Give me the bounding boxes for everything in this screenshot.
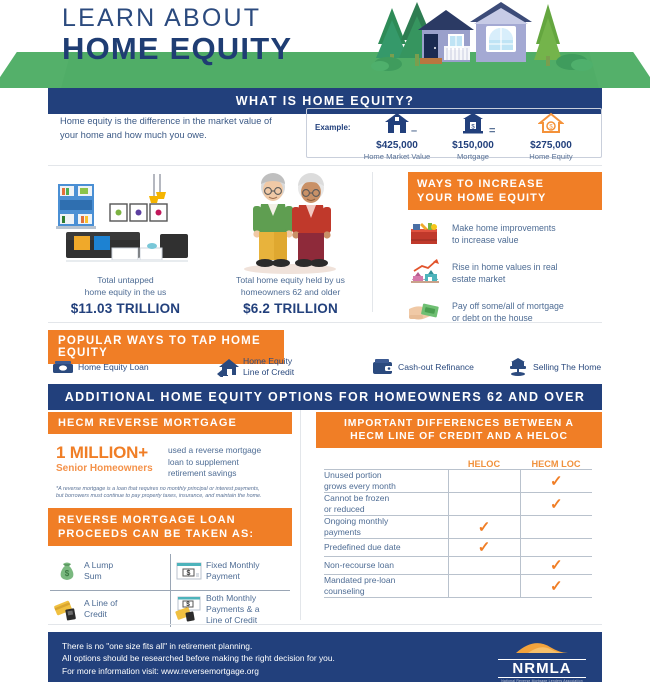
minus-operator: – xyxy=(411,125,417,137)
example-caption: Mortgage xyxy=(431,152,515,161)
table-row: Unused portion grows every month ✓ xyxy=(324,470,592,493)
hecm-stat-number-text: 1 MILLION xyxy=(56,443,138,462)
proceeds-band: REVERSE MORTGAGE LOAN PROCEEDS CAN BE TA… xyxy=(48,508,292,546)
example-amount: $150,000 xyxy=(431,140,515,151)
way-text-line1: Rise in home values in real xyxy=(452,261,558,273)
popular-item-label: Home Equity Line of Credit xyxy=(243,356,294,378)
living-room-svg xyxy=(48,170,203,275)
table-row: Ongoing monthly payments ✓ xyxy=(324,516,592,539)
svg-text:$: $ xyxy=(187,570,191,577)
comparison-header-blank xyxy=(324,459,448,470)
comparison-column: IMPORTANT DIFFERENCES BETWEEN A HECM LIN… xyxy=(316,412,602,598)
wallet-icon xyxy=(368,358,398,376)
comparison-row-label: Predefined due date xyxy=(324,539,448,557)
house-dollar-icon: $ xyxy=(538,112,564,134)
stat-caption-line2: home equity in the us xyxy=(48,287,203,299)
row-label-line2: grows every month xyxy=(324,481,448,492)
way-item-improvements: Make home improvements to increase value xyxy=(408,219,602,249)
comparison-cell-hecm xyxy=(520,539,592,557)
sold-sign-svg xyxy=(508,357,528,377)
proceeds-item-label: Fixed Monthly Payment xyxy=(206,560,260,582)
hecm-stat-block: 1 MILLION+ Senior Homeowners used a reve… xyxy=(48,443,292,480)
comparison-cell-heloc xyxy=(448,493,520,516)
svg-text:$: $ xyxy=(65,569,70,578)
vertical-divider xyxy=(372,172,373,312)
footer-line1: There is no "one size fits all" in retir… xyxy=(62,640,335,652)
proceeds-item-label: A Line of Credit xyxy=(84,598,117,620)
row-label-line1: Cannot be frozen xyxy=(324,493,448,504)
popular-item-label: Home Equity Loan xyxy=(78,362,149,373)
money-bag-icon: $ xyxy=(50,559,84,583)
hecm-stat-number-block: 1 MILLION+ Senior Homeowners xyxy=(56,443,168,480)
comparison-row-label: Cannot be frozen or reduced xyxy=(324,493,448,516)
stat-caption-line2: homeowners 62 and older xyxy=(213,287,368,299)
credit-card-icon xyxy=(50,597,84,621)
credit-card-svg xyxy=(53,597,81,621)
comparison-cell-hecm: ✓ xyxy=(520,470,592,493)
check-icon: ✓ xyxy=(478,519,491,536)
example-column-mortgage: $ $150,000 Mortgage xyxy=(431,112,515,161)
proceeds-grid: $ A Lump Sum $ xyxy=(48,552,292,629)
stat-caption-line1: Total home equity held by us xyxy=(213,275,368,287)
comparison-row-label: Mandated pre-loan counseling xyxy=(324,575,448,598)
way-text-line2: estate market xyxy=(452,273,558,285)
nrmla-wordmark: NRMLA xyxy=(498,659,586,678)
footer: There is no "one size fits all" in retir… xyxy=(48,632,602,682)
stat-caption-line1: Total untapped xyxy=(48,275,203,287)
comparison-band: IMPORTANT DIFFERENCES BETWEEN A HECM LIN… xyxy=(316,412,602,448)
comparison-cell-heloc xyxy=(448,557,520,575)
infographic-page: LEARN ABOUT HOME EQUITY xyxy=(0,0,650,691)
house-icon xyxy=(384,112,410,134)
popular-item-selling-home: Selling The Home xyxy=(503,357,602,377)
popular-label-line2: Line of Credit xyxy=(243,367,294,378)
sold-sign-icon xyxy=(503,357,533,377)
house-arrow-svg xyxy=(216,357,240,377)
proceeds-item-line-of-credit: A Line of Credit xyxy=(48,590,170,629)
footer-message: There is no "one size fits all" in retir… xyxy=(62,640,335,664)
hecm-desc-line3: retirement savings xyxy=(168,468,261,480)
way-item-text: Rise in home values in real estate marke… xyxy=(452,261,558,285)
table-row: Cannot be frozen or reduced ✓ xyxy=(324,493,592,516)
page-title: LEARN ABOUT HOME EQUITY xyxy=(62,4,292,66)
example-label: Example: xyxy=(315,123,351,132)
check-dollar-svg: $ xyxy=(176,561,202,581)
ways-band-line1: WAYS TO INCREASE xyxy=(417,177,593,191)
stat-senior-equity: Total home equity held by us homeowners … xyxy=(213,170,368,316)
comparison-table: HELOC HECM LOC Unused portion grows ever… xyxy=(324,459,592,598)
popular-item-cash-out-refinance: Cash-out Refinance xyxy=(368,358,503,376)
hecm-disclaimer: *A reverse mortgage is a loan that requi… xyxy=(48,486,268,501)
title-line-1: LEARN ABOUT xyxy=(62,4,292,32)
house-rising-chart-icon xyxy=(408,258,452,288)
row-label-line2: payments xyxy=(324,527,448,538)
check-card-svg: $ xyxy=(175,596,203,622)
popular-label-line1: Selling The Home xyxy=(533,362,601,373)
popular-ways-row: Home Equity Loan Home Equity Line of Cre… xyxy=(48,352,602,382)
proceeds-label-line1: Both Monthly xyxy=(206,593,260,604)
popular-label-line1: Home Equity Loan xyxy=(78,362,149,373)
living-room-illustration xyxy=(48,170,203,275)
comparison-cell-heloc: ✓ xyxy=(448,539,520,557)
example-caption: Home Market Value xyxy=(355,152,439,161)
nrmla-sun-icon xyxy=(498,640,586,654)
proceeds-item-both: $ Both Monthly Payments & a Line of Cred… xyxy=(170,590,292,629)
comparison-cell-heloc xyxy=(448,470,520,493)
check-icon: ✓ xyxy=(550,578,563,595)
check-dollar-icon: $ xyxy=(172,561,206,581)
ways-band-line2: YOUR HOME EQUITY xyxy=(417,191,593,205)
popular-label-line1: Home Equity xyxy=(243,356,294,367)
column-divider xyxy=(300,410,301,620)
equals-operator: = xyxy=(489,125,495,137)
way-item-market-rise: Rise in home values in real estate marke… xyxy=(408,258,602,288)
check-icon: ✓ xyxy=(478,539,491,556)
comparison-cell-hecm: ✓ xyxy=(520,575,592,598)
proceeds-item-lump-sum: $ A Lump Sum xyxy=(48,552,170,590)
way-text-line1: Pay off some/all of mortgage xyxy=(452,300,564,312)
comparison-table-head: HELOC HECM LOC xyxy=(324,459,592,470)
proceeds-band-line2: PROCEEDS CAN BE TAKEN AS: xyxy=(58,527,282,541)
comparison-row-label: Ongoing monthly payments xyxy=(324,516,448,539)
house-arrow-icon xyxy=(213,357,243,377)
comparison-cell-hecm: ✓ xyxy=(520,493,592,516)
proceeds-label-line2: Sum xyxy=(84,571,113,582)
toolbox-svg xyxy=(408,219,442,247)
money-stack-icon xyxy=(48,359,78,375)
row-label-line1: Unused portion xyxy=(324,470,448,481)
house-scene-illustration xyxy=(360,0,650,88)
check-icon: ✓ xyxy=(550,473,563,490)
popular-item-label: Cash-out Refinance xyxy=(398,362,474,373)
example-amount: $425,000 xyxy=(355,140,439,151)
stats-section: Total untapped home equity in the us $11… xyxy=(48,170,368,320)
footer-line2: All options should be researched before … xyxy=(62,652,335,664)
row-label-line1: Non-recourse loan xyxy=(324,560,448,571)
check-icon: ✓ xyxy=(550,557,563,574)
popular-item-heloc: Home Equity Line of Credit xyxy=(213,356,368,378)
nrmla-logo: NRMLA National Reverse Mortgage Lenders … xyxy=(498,640,586,683)
proceeds-horizontal-rule xyxy=(50,590,290,591)
hecm-stat-plus: + xyxy=(138,443,148,462)
bank-icon: $ xyxy=(460,112,486,134)
hecm-desc-line2: loan to supplement xyxy=(168,457,261,469)
way-item-text: Pay off some/all of mortgage or debt on … xyxy=(452,300,564,324)
table-row: Predefined due date ✓ xyxy=(324,539,592,557)
divider-top xyxy=(48,165,602,166)
additional-options-band: ADDITIONAL HOME EQUITY OPTIONS FOR HOMEO… xyxy=(48,384,602,410)
row-label-line2: counseling xyxy=(324,586,448,597)
way-item-text: Make home improvements to increase value xyxy=(452,222,556,246)
home-equity-definition: Home equity is the difference in the mar… xyxy=(60,114,290,142)
nrmla-subtitle: National Reverse Mortgage Lenders Associ… xyxy=(498,679,586,683)
example-box: Example: $425,000 Home Market Value – xyxy=(306,108,602,158)
header: LEARN ABOUT HOME EQUITY xyxy=(0,0,650,88)
check-icon: ✓ xyxy=(550,496,563,513)
comparison-row-label: Unused portion grows every month xyxy=(324,470,448,493)
row-label-line2: or reduced xyxy=(324,504,448,515)
popular-item-label: Selling The Home xyxy=(533,362,601,373)
comparison-header-row: HELOC HECM LOC xyxy=(324,459,592,470)
comparison-header-heloc: HELOC xyxy=(448,459,520,470)
house-rising-chart-svg xyxy=(408,258,442,286)
comparison-cell-heloc xyxy=(448,575,520,598)
way-text-line2: to increase value xyxy=(452,234,556,246)
hecm-stat-description: used a reverse mortgage loan to suppleme… xyxy=(168,443,261,480)
proceeds-item-fixed-monthly: $ Fixed Monthly Payment xyxy=(170,552,292,590)
money-stack-svg xyxy=(52,359,74,375)
popular-item-home-equity-loan: Home Equity Loan xyxy=(48,359,213,375)
stat-untapped-equity: Total untapped home equity in the us $11… xyxy=(48,170,203,316)
table-row: Non-recourse loan ✓ xyxy=(324,557,592,575)
table-row: Mandated pre-loan counseling ✓ xyxy=(324,575,592,598)
check-card-icon: $ xyxy=(172,596,206,622)
divider-mid xyxy=(48,322,602,323)
comparison-cell-hecm xyxy=(520,516,592,539)
senior-couple-svg xyxy=(213,170,368,275)
proceeds-label-line1: A Line of xyxy=(84,598,117,609)
comparison-band-line1: IMPORTANT DIFFERENCES BETWEEN A xyxy=(324,417,594,430)
ways-to-increase-band: WAYS TO INCREASE YOUR HOME EQUITY xyxy=(408,172,602,210)
comparison-row-label: Non-recourse loan xyxy=(324,557,448,575)
example-amount: $275,000 xyxy=(509,140,593,151)
example-column-market-value: $425,000 Home Market Value xyxy=(355,112,439,161)
hecm-stat-number: 1 MILLION+ xyxy=(56,443,168,462)
way-text-line1: Make home improvements xyxy=(452,222,556,234)
proceeds-band-line1: REVERSE MORTGAGE LOAN xyxy=(58,513,282,527)
proceeds-label-line1: A Lump xyxy=(84,560,113,571)
hecm-stat-subtitle: Senior Homeowners xyxy=(56,462,168,475)
wallet-svg xyxy=(372,358,394,376)
toolbox-icon xyxy=(408,219,452,249)
comparison-table-body: Unused portion grows every month ✓ Canno… xyxy=(324,470,592,598)
comparison-cell-hecm: ✓ xyxy=(520,557,592,575)
comparison-header-hecm: HECM LOC xyxy=(520,459,592,470)
hecm-left-column: HECM REVERSE MORTGAGE 1 MILLION+ Senior … xyxy=(48,412,292,629)
ways-to-increase-section: WAYS TO INCREASE YOUR HOME EQUITY Make h… xyxy=(408,172,602,327)
hand-money-svg xyxy=(408,297,442,325)
comparison-band-line2: HECM LINE OF CREDIT AND A HELOC xyxy=(324,430,594,443)
row-label-line1: Mandated pre-loan xyxy=(324,575,448,586)
what-is-section: Home equity is the difference in the mar… xyxy=(48,108,602,160)
svg-text:$: $ xyxy=(186,601,190,608)
title-line-2: HOME EQUITY xyxy=(62,32,292,66)
proceeds-label-line1: Fixed Monthly xyxy=(206,560,260,571)
senior-couple-illustration xyxy=(213,170,368,275)
popular-label-line1: Cash-out Refinance xyxy=(398,362,474,373)
proceeds-label-line2: Payments & a xyxy=(206,604,260,615)
house-scene-svg xyxy=(360,0,650,88)
proceeds-label-line2: Payment xyxy=(206,571,260,582)
comparison-cell-heloc: ✓ xyxy=(448,516,520,539)
stat-value: $6.2 TRILLION xyxy=(213,301,368,316)
footer-url[interactable]: For more information visit: www.reversem… xyxy=(62,666,259,676)
hecm-desc-line1: used a reverse mortgage xyxy=(168,445,261,457)
proceeds-item-label: A Lump Sum xyxy=(84,560,113,582)
hecm-reverse-mortgage-band: HECM REVERSE MORTGAGE xyxy=(48,412,292,434)
proceeds-item-label: Both Monthly Payments & a Line of Credit xyxy=(206,593,260,626)
stat-value: $11.03 TRILLION xyxy=(48,301,203,316)
row-label-line1: Predefined due date xyxy=(324,542,448,553)
money-bag-svg: $ xyxy=(55,559,79,583)
example-caption: Home Equity xyxy=(509,152,593,161)
example-column-home-equity: $ $275,000 Home Equity xyxy=(509,112,593,161)
row-label-line1: Ongoing monthly xyxy=(324,516,448,527)
divider-footer xyxy=(48,624,602,625)
proceeds-label-line2: Credit xyxy=(84,609,117,620)
